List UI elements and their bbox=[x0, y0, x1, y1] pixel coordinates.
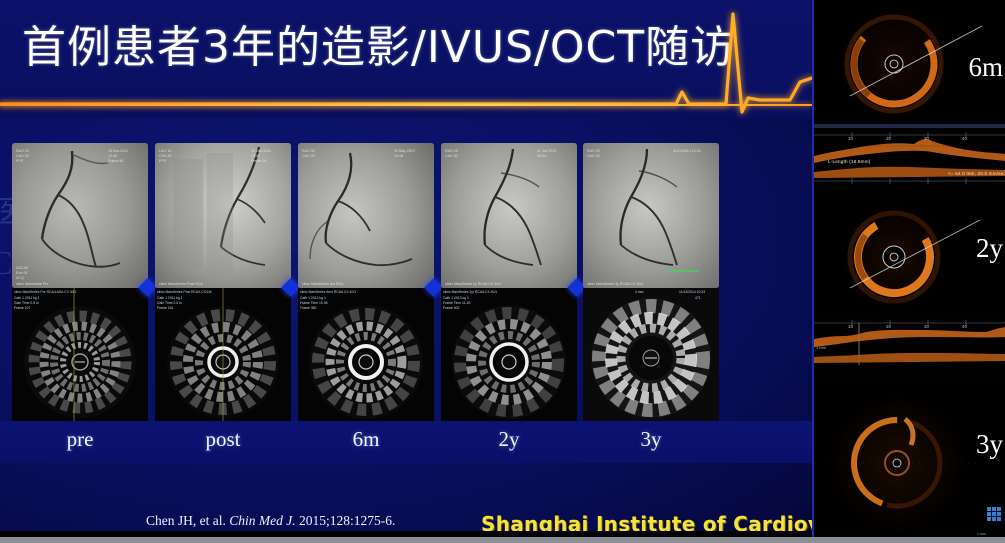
svg-text:15 Nov 2011: 15 Nov 2011 bbox=[108, 149, 128, 153]
svg-text:10: 10 bbox=[848, 136, 853, 141]
svg-text:12:40: 12:40 bbox=[108, 154, 117, 158]
svg-text:Frame Time 11.20: Frame Time 11.20 bbox=[443, 301, 470, 305]
timepoint-column-3y[interactable]: RAO 30CAU 25 11/14/2014 10:24 clinic Mai… bbox=[583, 143, 719, 421]
svg-text:FPS: FPS bbox=[159, 159, 167, 163]
svg-text:20 May 2012: 20 May 2012 bbox=[394, 149, 415, 153]
svg-text:13:02: 13:02 bbox=[251, 154, 260, 158]
svg-text:09:44: 09:44 bbox=[537, 154, 546, 158]
svg-text:clinic MainSeries Post RCA/LC: clinic MainSeries Post RCA/LCX/LM bbox=[157, 290, 212, 294]
timepoint-label-pre: pre bbox=[12, 427, 148, 452]
svg-text:471: 471 bbox=[695, 296, 701, 300]
svg-text:15 Nov 2011: 15 Nov 2011 bbox=[251, 149, 271, 153]
svg-text:CAU 25: CAU 25 bbox=[302, 154, 315, 158]
timepoint-column-pre[interactable]: RAO 30CAU 25FPS 15 Nov 201112:40Frame 88… bbox=[12, 143, 148, 421]
ecg-waveform-decoration bbox=[0, 0, 812, 120]
svg-text:40: 40 bbox=[962, 136, 967, 141]
svg-text:clinic MainSeries Pre RCA/LAD: clinic MainSeries Pre RCA/LAD/LCX 40/1 bbox=[14, 290, 76, 294]
svg-text:30: 30 bbox=[924, 324, 929, 329]
timepoint-column-6m[interactable]: RAO 30CAU 25 20 May 201210:18 clinic Mai… bbox=[298, 143, 434, 421]
angiogram-post[interactable]: LAO 10CRA 35FPS 15 Nov 201113:02Frame 90… bbox=[155, 143, 291, 288]
svg-text:Cath 1 2011 kg 1: Cath 1 2011 kg 1 bbox=[157, 296, 183, 300]
citation-authors: Chen JH, et al. bbox=[146, 513, 229, 528]
angiogram-6m[interactable]: RAO 30CAU 25 20 May 201210:18 clinic Mai… bbox=[298, 143, 434, 288]
svg-text:Frame 402: Frame 402 bbox=[443, 306, 460, 310]
svg-text:clinic MainSeries 6mo RCA/LCX: clinic MainSeries 6mo RCA/LCX 40/1 bbox=[300, 290, 356, 294]
timepoint-label-6m: 6m bbox=[298, 427, 434, 452]
svg-text:clinic MainSeries 6m RCA: clinic MainSeries 6m RCA bbox=[302, 282, 344, 286]
svg-text:CAU 25: CAU 25 bbox=[16, 154, 29, 158]
oct-cross-section-3y[interactable]: 1 mm 3y bbox=[814, 387, 1005, 543]
svg-text:4 mm: 4 mm bbox=[635, 290, 644, 294]
ivus-6m[interactable]: clinic MainSeries 6mo RCA/LCX 40/1 Cath … bbox=[298, 288, 434, 421]
svg-text:clinic MainSeries Post RCA: clinic MainSeries Post RCA bbox=[159, 282, 203, 286]
svg-text:clinic Mainframe Pre: clinic Mainframe Pre bbox=[16, 282, 49, 286]
svg-text:Run 01: Run 01 bbox=[16, 271, 28, 275]
timepoint-column-post[interactable]: LAO 10CRA 35FPS 15 Nov 201113:02Frame 90… bbox=[155, 143, 291, 421]
oct-cross-section-6m[interactable]: 6m bbox=[814, 0, 1005, 128]
svg-text:11/14/2014 10:24: 11/14/2014 10:24 bbox=[673, 149, 701, 153]
oct-longitudinal-1[interactable]: 1020 3040 L-Length (18.5mm) <= 54.0 mm, … bbox=[814, 128, 1005, 200]
ivus-3y[interactable]: 4 mm 11/14/2014 10:24 471 bbox=[583, 288, 719, 421]
slide-stage: 首例患者3年的造影/IVUS/OCT随访 bbox=[0, 0, 812, 537]
angiogram-2y[interactable]: RAO 25CAU 30 11 Oct 201309:44 clinic Mai… bbox=[441, 143, 577, 288]
svg-text:Frame 161: Frame 161 bbox=[157, 306, 174, 310]
angiogram-pre[interactable]: RAO 30CAU 25FPS 15 Nov 201112:40Frame 88… bbox=[12, 143, 148, 288]
svg-text:clinic MainSeries 3y RCA/LCX 4: clinic MainSeries 3y RCA/LCX 40/1 bbox=[587, 282, 643, 286]
svg-text:40: 40 bbox=[962, 324, 967, 329]
taskbar bbox=[0, 537, 1005, 543]
oct-cross-section-2y[interactable]: 2y bbox=[814, 200, 1005, 315]
svg-text:10: 10 bbox=[848, 324, 853, 329]
svg-text:20: 20 bbox=[886, 324, 891, 329]
grid-layout-icon[interactable] bbox=[987, 507, 1001, 521]
title-band: 首例患者3年的造影/IVUS/OCT随访 bbox=[0, 0, 812, 118]
svg-text:ACQ: ACQ bbox=[16, 276, 24, 280]
svg-text:clinic MainSeries 2yr RCA/LCX: clinic MainSeries 2yr RCA/LCX 40/1 bbox=[443, 290, 497, 294]
svg-text:RAO 30: RAO 30 bbox=[16, 149, 29, 153]
svg-text:clinic MainSeries 2y RCA/LCX 4: clinic MainSeries 2y RCA/LCX 40/1 bbox=[445, 282, 501, 286]
timepoint-label-3y: 3y bbox=[583, 427, 719, 452]
svg-text:CAU 30: CAU 30 bbox=[445, 154, 458, 158]
oct-longitudinal-2[interactable]: 1020 3040 1 mm bbox=[814, 315, 1005, 387]
svg-text:20: 20 bbox=[886, 136, 891, 141]
svg-text:CAU 25: CAU 25 bbox=[587, 154, 600, 158]
svg-text:30: 30 bbox=[924, 136, 929, 141]
footer-brand: Shanghai Institute of Cardiov bbox=[481, 512, 812, 536]
svg-text:RAO 30: RAO 30 bbox=[587, 149, 600, 153]
presentation-slide: 首例患者3年的造影/IVUS/OCT随访 bbox=[0, 0, 1005, 543]
svg-text:DICOM: DICOM bbox=[16, 266, 28, 270]
citation-journal: Chin Med J. bbox=[229, 513, 295, 528]
svg-text:1 mm: 1 mm bbox=[816, 345, 827, 350]
svg-text:1 mm: 1 mm bbox=[977, 532, 986, 536]
ivus-post[interactable]: clinic MainSeries Post RCA/LCX/LM Cath 1… bbox=[155, 288, 291, 421]
svg-text:Frame 380: Frame 380 bbox=[300, 306, 317, 310]
svg-text:Cath 1 2012 kg 1: Cath 1 2012 kg 1 bbox=[300, 296, 326, 300]
oct-panel: 6m 1020 30 bbox=[812, 0, 1005, 543]
svg-text:Gain Time 0.5 in: Gain Time 0.5 in bbox=[157, 301, 182, 305]
svg-text:LAO 10: LAO 10 bbox=[159, 149, 171, 153]
svg-text:Frame 88: Frame 88 bbox=[108, 159, 123, 163]
timepoint-column-2y[interactable]: RAO 25CAU 30 11 Oct 201309:44 clinic Mai… bbox=[441, 143, 577, 421]
svg-text:10:18: 10:18 bbox=[394, 154, 403, 158]
svg-text:RAO 25: RAO 25 bbox=[445, 149, 458, 153]
svg-text:11 Oct 2013: 11 Oct 2013 bbox=[537, 149, 556, 153]
oct-pullback-label: <= 54.0 mm, 20.0 mm/sec bbox=[948, 171, 1005, 176]
title-underline bbox=[0, 104, 812, 106]
ivus-2y[interactable]: clinic MainSeries 2yr RCA/LCX 40/1 Cath … bbox=[441, 288, 577, 421]
imaging-grid: RAO 30CAU 25FPS 15 Nov 201112:40Frame 88… bbox=[12, 143, 719, 421]
svg-text:RAO 30: RAO 30 bbox=[302, 149, 315, 153]
svg-text:Cath 1 2011 kg 1: Cath 1 2011 kg 1 bbox=[14, 296, 40, 300]
oct-length-label: L-Length (18.5mm) bbox=[828, 159, 870, 164]
svg-text:Cath 1 2013 kg 1: Cath 1 2013 kg 1 bbox=[443, 296, 469, 300]
svg-text:Frame 107: Frame 107 bbox=[14, 306, 31, 310]
svg-text:CRA 35: CRA 35 bbox=[159, 154, 171, 158]
svg-text:Frame Time 10.06: Frame Time 10.06 bbox=[300, 301, 328, 305]
ivus-pre[interactable]: clinic MainSeries Pre RCA/LAD/LCX 40/1 C… bbox=[12, 288, 148, 421]
timepoint-label-post: post bbox=[155, 427, 291, 452]
citation-locator: 2015;128:1275-6. bbox=[296, 513, 396, 528]
citation-text: Chen JH, et al. Chin Med J. 2015;128:127… bbox=[146, 513, 395, 529]
svg-text:FPS: FPS bbox=[16, 159, 24, 163]
svg-text:Frame 90: Frame 90 bbox=[251, 159, 266, 163]
timepoint-label-2y: 2y bbox=[441, 427, 577, 452]
svg-text:Gain Time 0.5 in: Gain Time 0.5 in bbox=[14, 301, 39, 305]
timepoint-label-strip: pre post 6m 2y 3y bbox=[0, 421, 812, 463]
angiogram-3y[interactable]: RAO 30CAU 25 11/14/2014 10:24 clinic Mai… bbox=[583, 143, 719, 288]
svg-text:11/14/2014 10:24: 11/14/2014 10:24 bbox=[679, 290, 705, 294]
